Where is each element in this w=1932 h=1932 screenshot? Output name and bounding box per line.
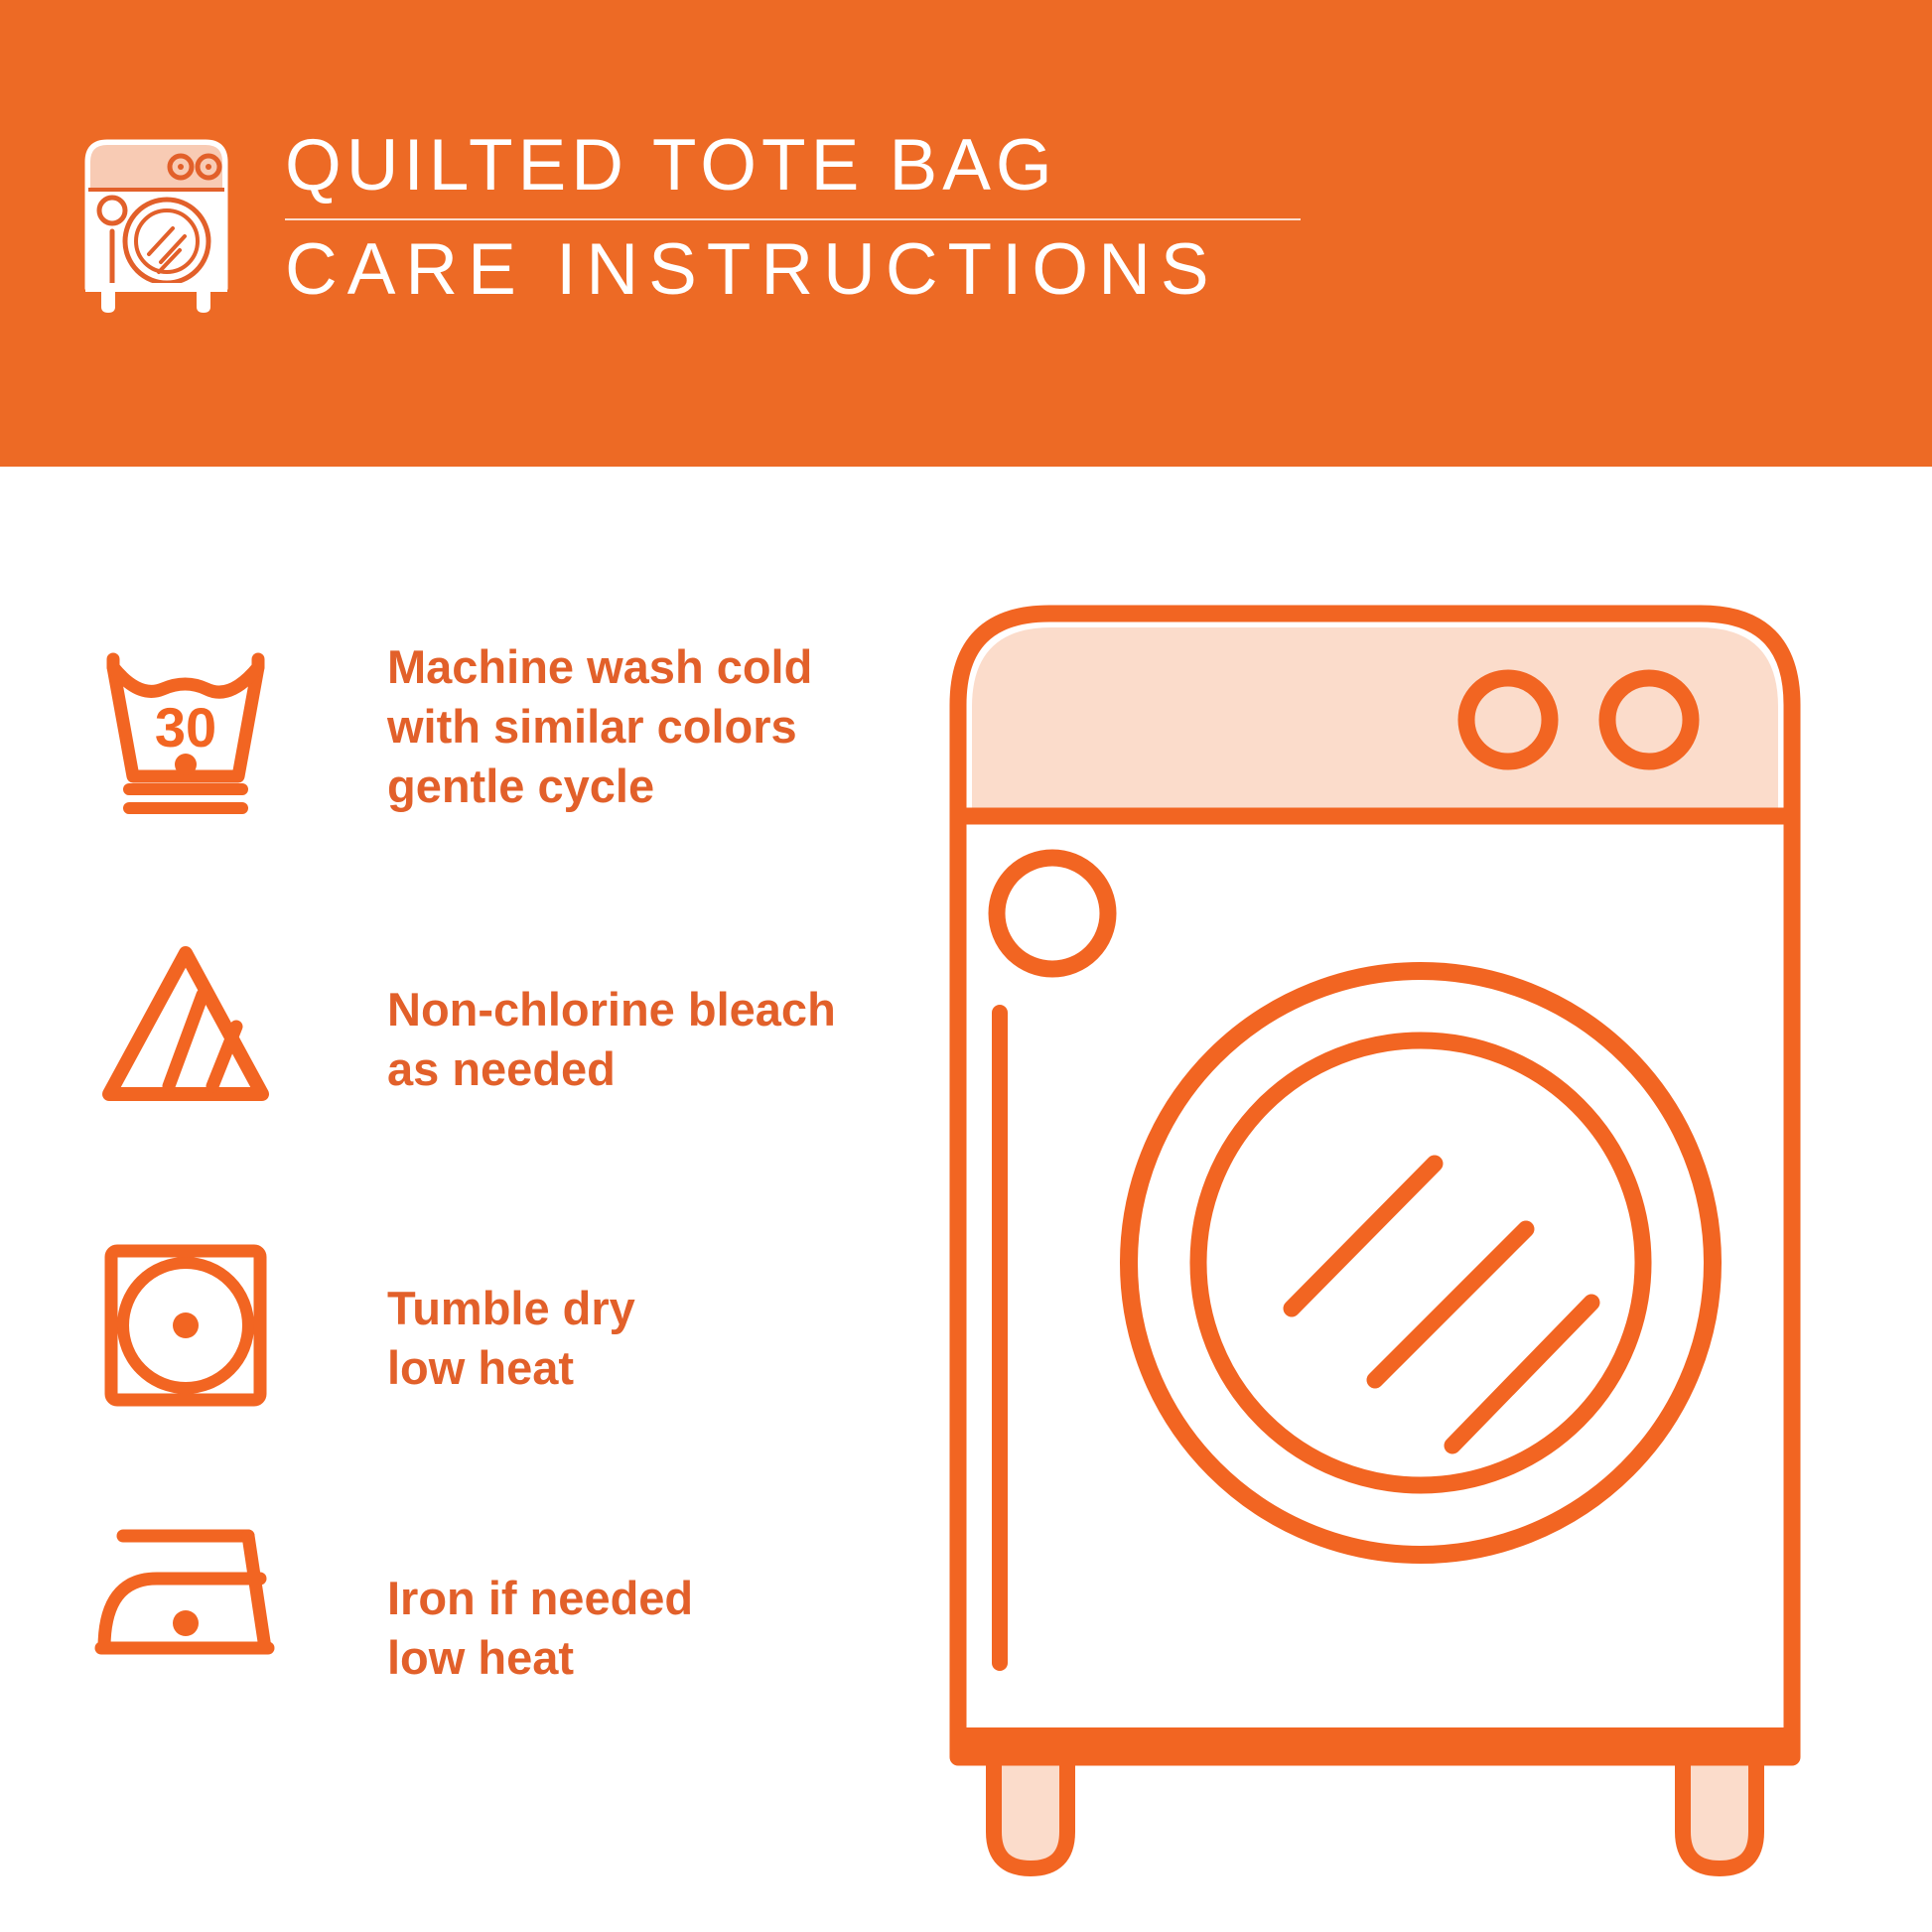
machine-knob-right [1607, 678, 1691, 761]
care-label-tumble-dry: Tumble dry low heat [387, 1279, 635, 1398]
machine-knob-left [1466, 678, 1550, 761]
non-chlorine-bleach-triangle-icon [91, 935, 280, 1124]
care-instruction-list: 30 Machine wash cold with similar colors… [0, 467, 953, 1932]
care-label-bleach: Non-chlorine bleach as needed [387, 980, 836, 1099]
page-title: QUILTED TOTE BAG [285, 127, 1327, 206]
tumble-dry-low-icon [91, 1231, 280, 1420]
care-label-iron: Iron if needed low heat [387, 1569, 693, 1688]
wash-tub-30-icon: 30 [91, 637, 280, 826]
header-title-block: QUILTED TOTE BAG CARE INSTRUCTIONS [285, 127, 1327, 310]
washing-machine-icon [79, 132, 233, 316]
care-label-machine-wash: Machine wash cold with similar colors ge… [387, 637, 812, 816]
svg-text:30: 30 [155, 696, 216, 759]
page-subtitle: CARE INSTRUCTIONS [285, 231, 1327, 310]
title-divider [285, 218, 1301, 220]
large-washing-machine-illustration [948, 596, 1842, 1886]
iron-low-heat-icon [91, 1521, 280, 1710]
header-banner: QUILTED TOTE BAG CARE INSTRUCTIONS [0, 0, 1932, 467]
